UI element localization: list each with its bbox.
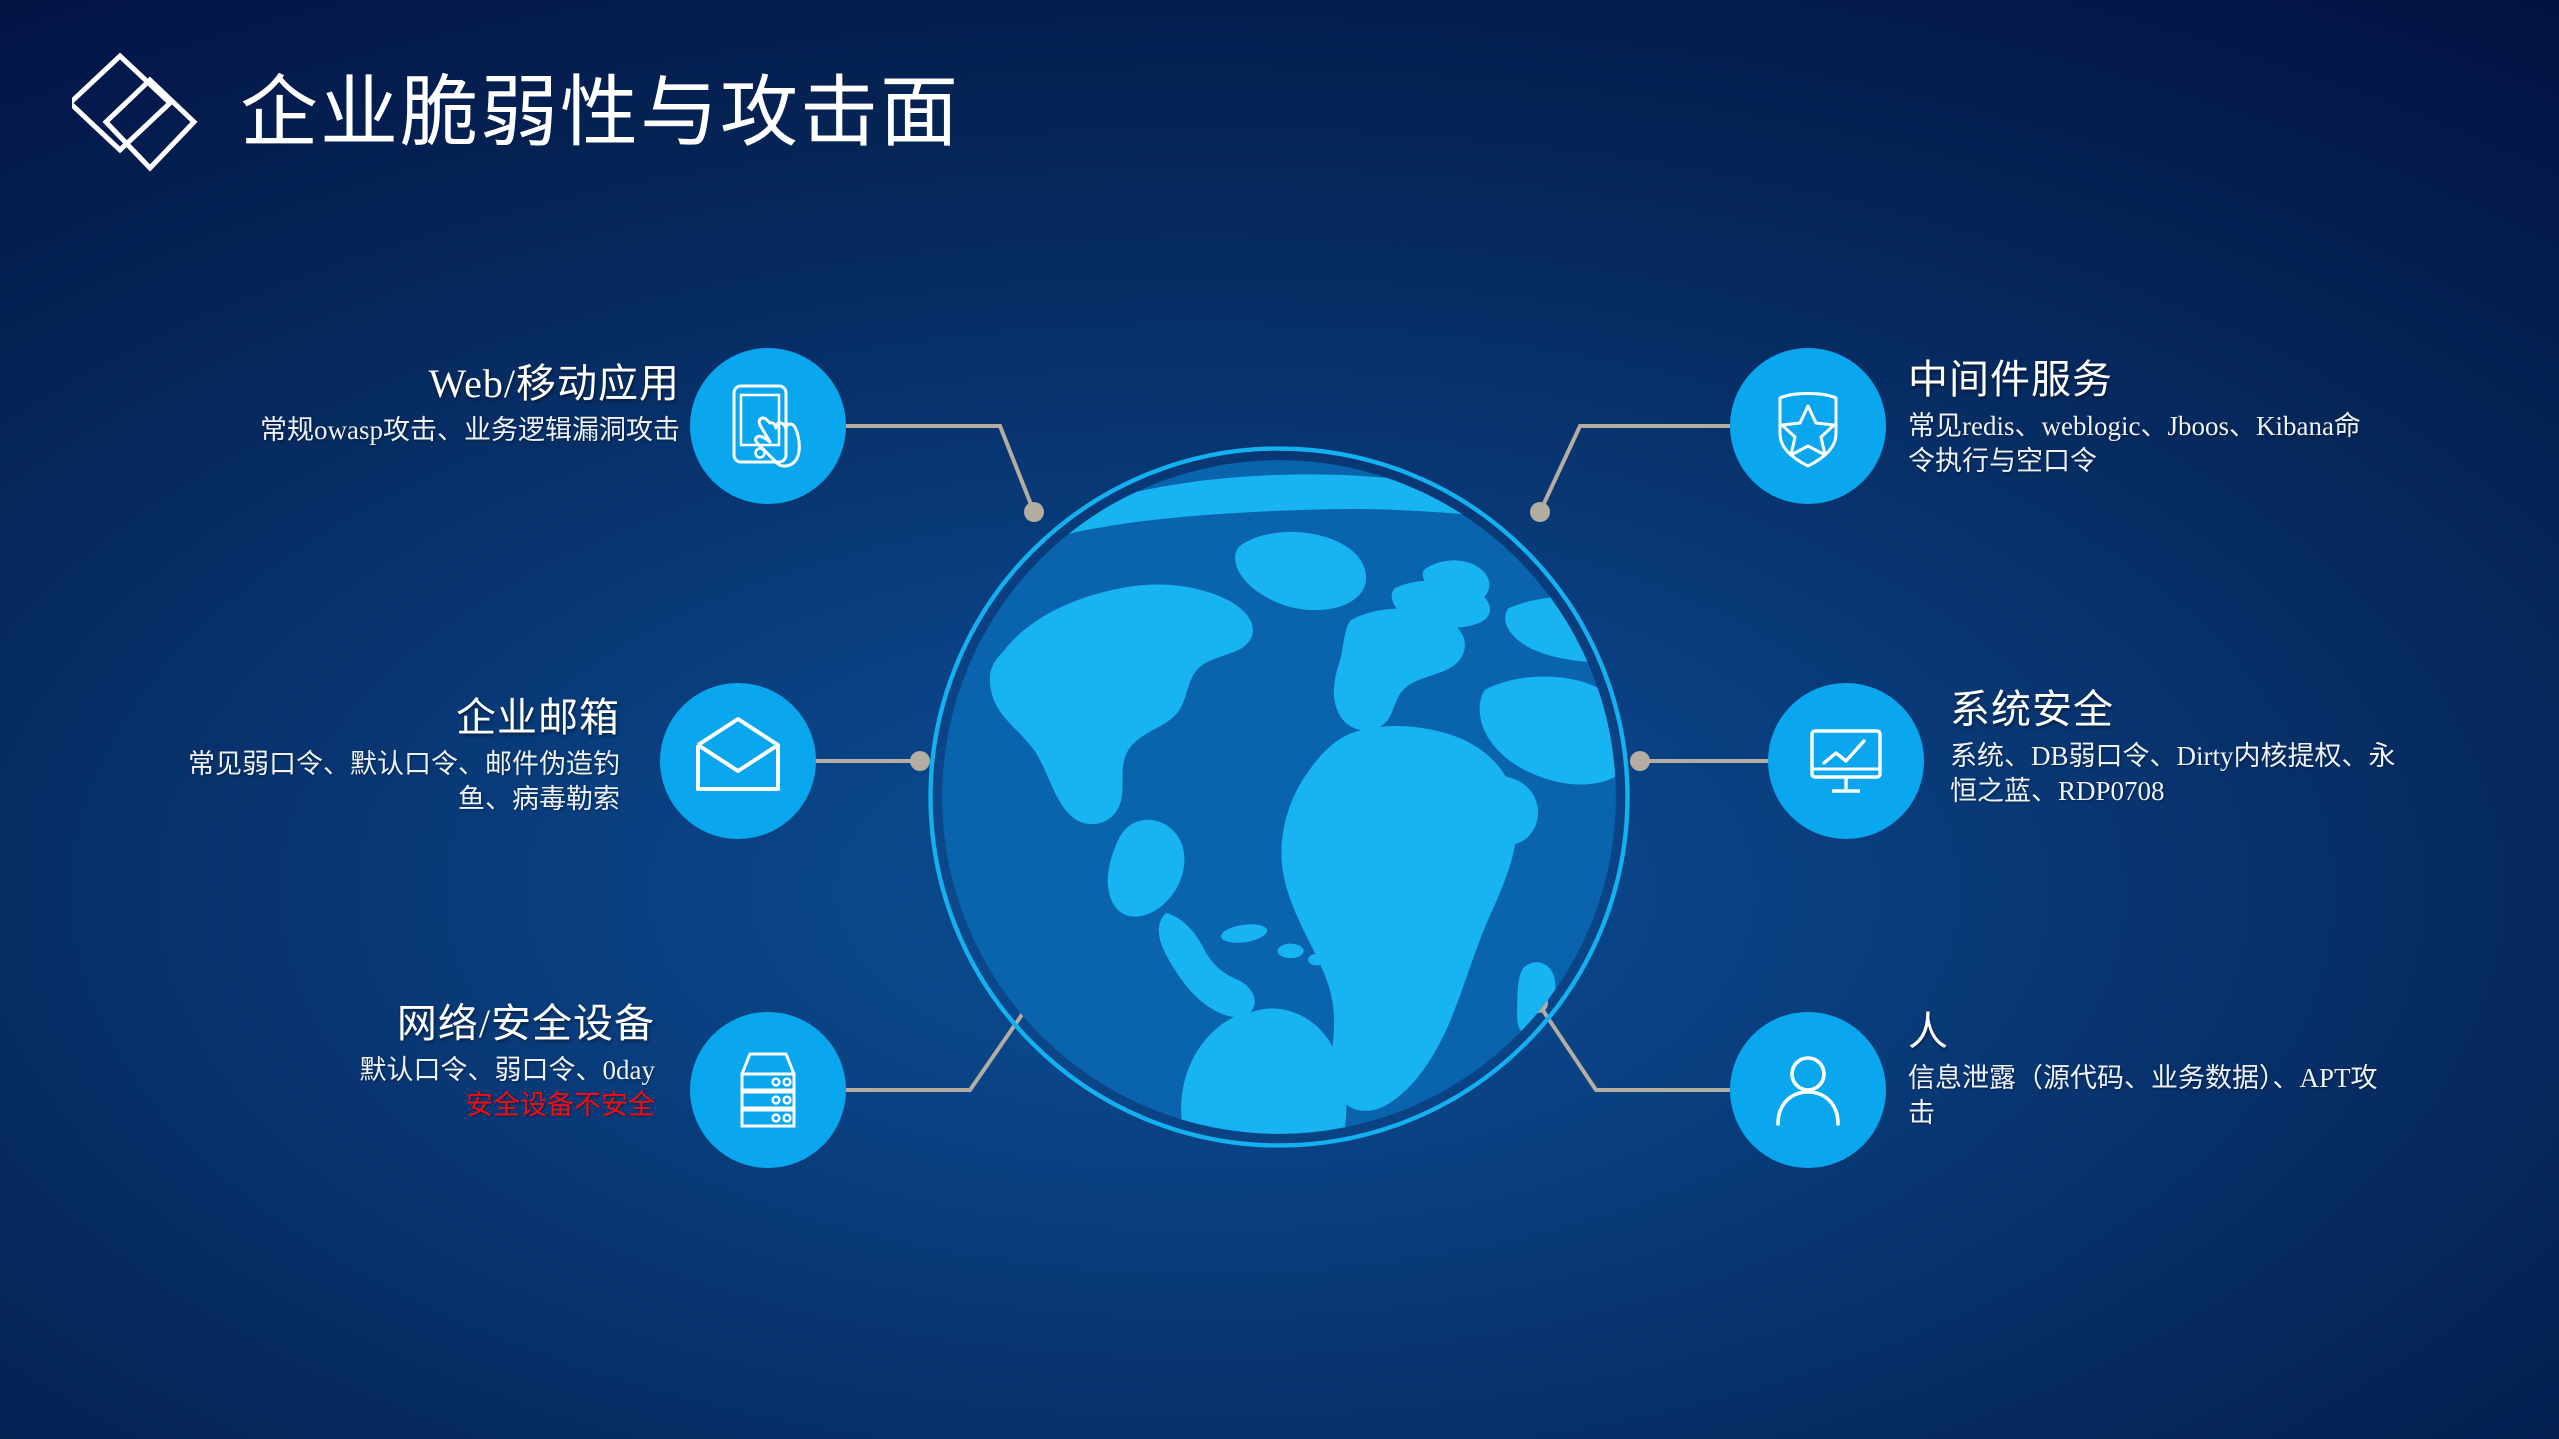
envelope-icon xyxy=(688,711,788,811)
globe-graphic xyxy=(916,434,1642,1160)
double-diamond-logo-icon xyxy=(72,48,200,176)
node-mail-circle[interactable] xyxy=(660,683,816,839)
server-rack-icon xyxy=(720,1042,816,1138)
person-icon xyxy=(1760,1042,1856,1138)
node-middleware-desc: 常见redis、weblogic、Jboos、Kibana命令执行与空口令 xyxy=(1908,409,2378,480)
node-netdev-text: 网络/安全设备 默认口令、弱口令、0day 安全设备不安全 xyxy=(185,1002,655,1124)
node-system-desc: 系统、DB弱口令、Dirty内核提权、永恒之蓝、RDP0708 xyxy=(1950,739,2420,810)
globe-icon xyxy=(916,434,1642,1160)
node-people-circle[interactable] xyxy=(1730,1012,1886,1168)
slide-canvas: 企业脆弱性与攻击面 xyxy=(0,0,2559,1439)
node-people-title: 人 xyxy=(1908,1010,2378,1055)
node-system-circle[interactable] xyxy=(1768,683,1924,839)
node-web-desc: 常规owasp攻击、业务逻辑漏洞攻击 xyxy=(210,413,680,449)
shield-star-icon xyxy=(1760,378,1856,474)
node-mail-text: 企业邮箱 常见弱口令、默认口令、邮件伪造钓鱼、病毒勒索 xyxy=(150,696,620,818)
node-mail-desc: 常见弱口令、默认口令、邮件伪造钓鱼、病毒勒索 xyxy=(150,747,620,818)
node-people-desc: 信息泄露（源代码、业务数据）、APT攻击 xyxy=(1908,1061,2378,1132)
node-web-text: Web/移动应用 常规owasp攻击、业务逻辑漏洞攻击 xyxy=(210,362,680,448)
node-web-title: Web/移动应用 xyxy=(210,362,680,407)
node-mail-title: 企业邮箱 xyxy=(150,696,620,741)
node-netdev-warning: 安全设备不安全 xyxy=(185,1088,655,1124)
tablet-touch-icon xyxy=(720,378,816,474)
node-middleware-title: 中间件服务 xyxy=(1908,358,2378,403)
node-middleware-circle[interactable] xyxy=(1730,348,1886,504)
node-system-title: 系统安全 xyxy=(1950,688,2420,733)
node-web-circle[interactable] xyxy=(690,348,846,504)
page-title: 企业脆弱性与攻击面 xyxy=(240,73,960,151)
node-netdev-title: 网络/安全设备 xyxy=(185,1002,655,1047)
node-people-text: 人 信息泄露（源代码、业务数据）、APT攻击 xyxy=(1908,1010,2378,1132)
node-system-text: 系统安全 系统、DB弱口令、Dirty内核提权、永恒之蓝、RDP0708 xyxy=(1950,688,2420,810)
node-netdev-desc-main: 默认口令、弱口令、0day xyxy=(360,1055,655,1085)
node-netdev-desc: 默认口令、弱口令、0day 安全设备不安全 xyxy=(185,1053,655,1124)
node-middleware-text: 中间件服务 常见redis、weblogic、Jboos、Kibana命令执行与… xyxy=(1908,358,2378,480)
node-netdev-circle[interactable] xyxy=(690,1012,846,1168)
slide-header: 企业脆弱性与攻击面 xyxy=(72,48,960,176)
monitor-chart-icon xyxy=(1798,713,1894,809)
